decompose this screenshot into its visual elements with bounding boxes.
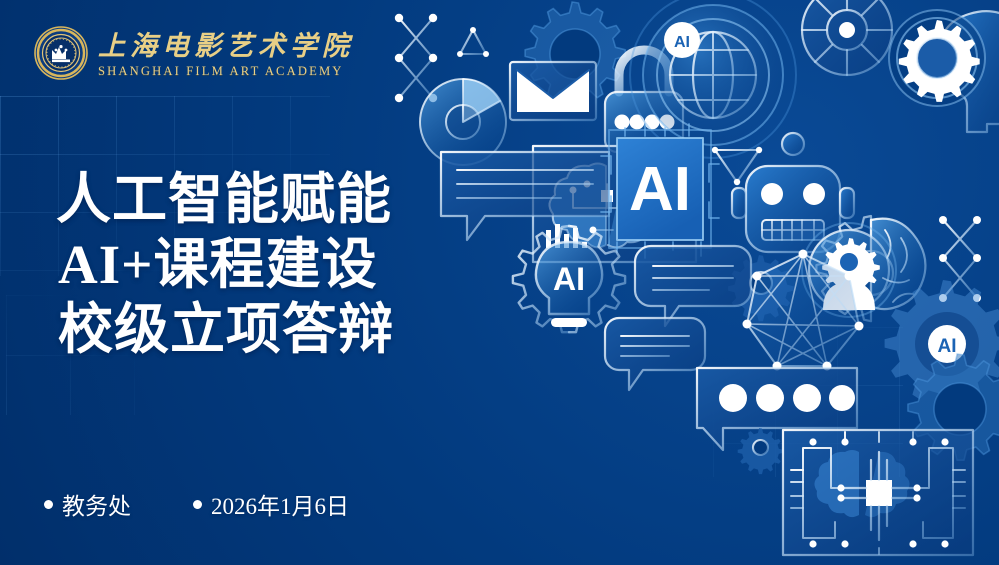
bullet-dot-icon: [193, 500, 202, 509]
bullet-dot-icon: [44, 500, 53, 509]
presentation-slide: AI: [0, 0, 999, 565]
radar-dial-icon: [802, 0, 892, 75]
molecule-cross-icon: [395, 14, 437, 102]
academy-wordmark: 上海电影艺术学院 SHANGHAI FILM ART ACADEMY: [98, 28, 388, 79]
title-line-3: 校级立项答辩: [58, 302, 394, 357]
crown-seal-emblem: [34, 26, 88, 80]
meta-item-date: 2026年1月6日: [193, 487, 349, 521]
ai-chip-panel-icon: AI: [601, 124, 719, 258]
slide-meta: 教务处 2026年1月6日: [44, 487, 349, 521]
ai-artwork-collage: AI: [383, 0, 999, 565]
speech-bubble-small-icon: [605, 318, 705, 390]
meta-item-department: 教务处: [44, 487, 131, 521]
slide-title: 人工智能赋能 AI+课程建设 校级立项答辩: [56, 172, 394, 357]
speech-bubble-lines-icon-2: [635, 246, 751, 326]
circuit-board-brain-panel-icon: [783, 430, 973, 555]
lightbulb-ai-label: AI: [553, 261, 585, 297]
meta-date-label: 2026年1月6日: [211, 487, 349, 521]
globe-ai-badge-label: AI: [674, 34, 690, 51]
envelope-icon: [510, 62, 596, 120]
head-gear-profile-icon: [889, 10, 999, 132]
ai-chip-label: AI: [629, 155, 691, 224]
academy-english-name: SHANGHAI FILM ART ACADEMY: [98, 64, 388, 79]
academy-logo: 上海电影艺术学院 SHANGHAI FILM ART ACADEMY: [34, 26, 388, 80]
title-line-1: 人工智能赋能: [56, 172, 394, 227]
globe-icon: AI: [630, 0, 796, 158]
academy-chinese-name-text: 上海电影艺术学院: [98, 31, 354, 61]
gear-small-icon-2: [738, 428, 784, 474]
meta-department-label: 教务处: [62, 487, 131, 521]
triangle-outline-icon: [457, 27, 489, 57]
title-line-2: AI+课程建设: [58, 237, 394, 292]
gear-ai-badge-label: AI: [938, 336, 957, 357]
academy-chinese-name: 上海电影艺术学院: [98, 28, 388, 62]
